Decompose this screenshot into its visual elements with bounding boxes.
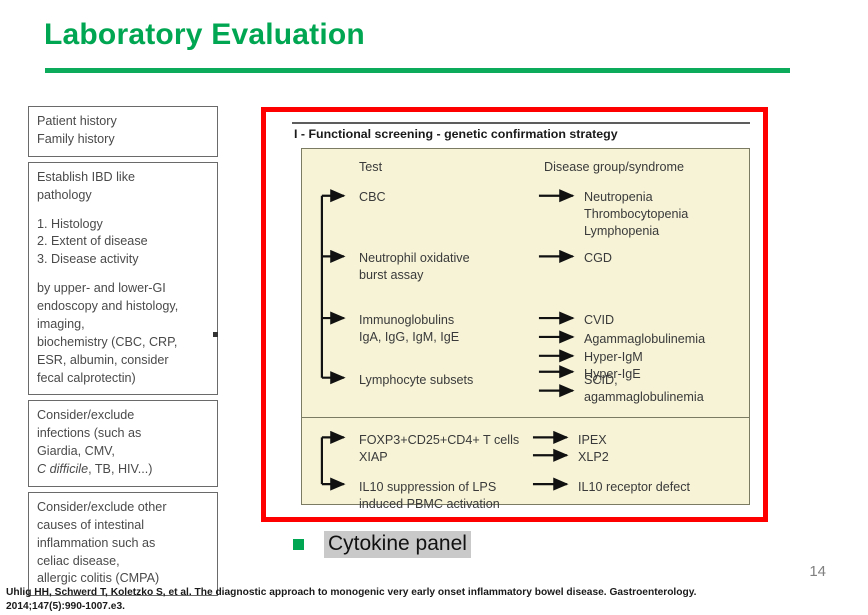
square-bullet-icon	[293, 539, 304, 550]
page-number: 14	[809, 563, 826, 580]
test-label-immunoglobulins: Immunoglobulins IgA, IgG, IgM, IgE	[359, 312, 459, 346]
connector-tick-marker	[213, 332, 218, 337]
text-line: 2. Extent of disease	[37, 233, 209, 251]
figure-panel: I - Functional screening - genetic confi…	[292, 122, 752, 507]
slide-canvas: Laboratory Evaluation Patient history Fa…	[0, 0, 868, 615]
text-line: biochemistry (CBC, CRP,	[37, 334, 209, 352]
page-title: Laboratory Evaluation	[44, 18, 365, 52]
test-label-neutrophil-burst: Neutrophil oxidative burst assay	[359, 250, 470, 284]
text-line: infections (such as	[37, 425, 209, 443]
text-line: Family history	[37, 131, 209, 149]
text-line: Giardia, CMV,	[37, 443, 209, 461]
disease-label-cgd: CGD	[584, 250, 612, 267]
text-line: Consider/exclude	[37, 407, 209, 425]
column-header-disease: Disease group/syndrome	[544, 160, 684, 174]
text-rest: , TB, HIV...)	[88, 462, 152, 476]
column-header-test: Test	[359, 160, 382, 174]
bullet-cytokine-panel: Cytokine panel	[293, 531, 471, 558]
box-consider-exclude-other-causes: Consider/exclude other causes of intesti…	[28, 492, 218, 596]
test-label-foxp3-xiap: FOXP3+CD25+CD4+ T cells XIAP	[359, 432, 519, 466]
disease-label-il10-receptor-defect: IL10 receptor defect	[578, 479, 690, 496]
figure-body: Test Disease group/syndrome	[301, 148, 750, 505]
citation-footer: Uhlig HH, Schwerd T, Koletzko S, et al. …	[6, 586, 806, 614]
text-line: 3. Disease activity	[37, 251, 209, 269]
text-line: by upper- and lower-GI	[37, 280, 209, 298]
text-line: celiac disease,	[37, 553, 209, 571]
box-consider-exclude-infections: Consider/exclude infections (such as Gia…	[28, 400, 218, 487]
test-label-cbc: CBC	[359, 189, 386, 206]
text-line: endoscopy and histology,	[37, 298, 209, 316]
disease-label-ipex-xlp2: IPEX XLP2	[578, 432, 609, 466]
text-line: Consider/exclude other	[37, 499, 209, 517]
spacer	[37, 269, 209, 280]
text-line: causes of intestinal	[37, 517, 209, 535]
left-flowchart-column: Patient history Family history Establish…	[28, 106, 218, 601]
figure-caption: I - Functional screening - genetic confi…	[294, 127, 618, 141]
text-line: pathology	[37, 187, 209, 205]
spacer	[37, 205, 209, 216]
figure-top-rule	[292, 122, 750, 124]
disease-label-cbc-group: Neutropenia Thrombocytopenia Lymphopenia	[584, 189, 688, 240]
text-line: 1. Histology	[37, 216, 209, 234]
box-patient-history: Patient history Family history	[28, 106, 218, 157]
box-establish-ibd: Establish IBD like pathology 1. Histolog…	[28, 162, 218, 396]
test-label-il10-suppression: IL10 suppression of LPS induced PBMC act…	[359, 479, 500, 513]
citation-line-2: 2014;147(5):990-1007.e3.	[6, 600, 806, 614]
text-line: Establish IBD like	[37, 169, 209, 187]
text-line: imaging,	[37, 316, 209, 334]
text-line-italic: C difficile, TB, HIV...)	[37, 461, 209, 479]
text-line: inflammation such as	[37, 535, 209, 553]
citation-line-1: Uhlig HH, Schwerd T, Koletzko S, et al. …	[6, 586, 806, 600]
text-line: ESR, albumin, consider	[37, 352, 209, 370]
disease-label-scid-group: SCID, agammaglobulinemia	[584, 372, 704, 406]
bullet-label: Cytokine panel	[324, 531, 471, 558]
text-line: fecal calprotectin)	[37, 370, 209, 388]
italic-species: C difficile	[37, 462, 88, 476]
test-label-lymphocyte-subsets: Lymphocyte subsets	[359, 372, 473, 389]
text-line: Patient history	[37, 113, 209, 131]
title-underline-rule	[45, 68, 790, 73]
section-divider	[302, 417, 749, 418]
red-highlight-box: I - Functional screening - genetic confi…	[261, 107, 768, 522]
